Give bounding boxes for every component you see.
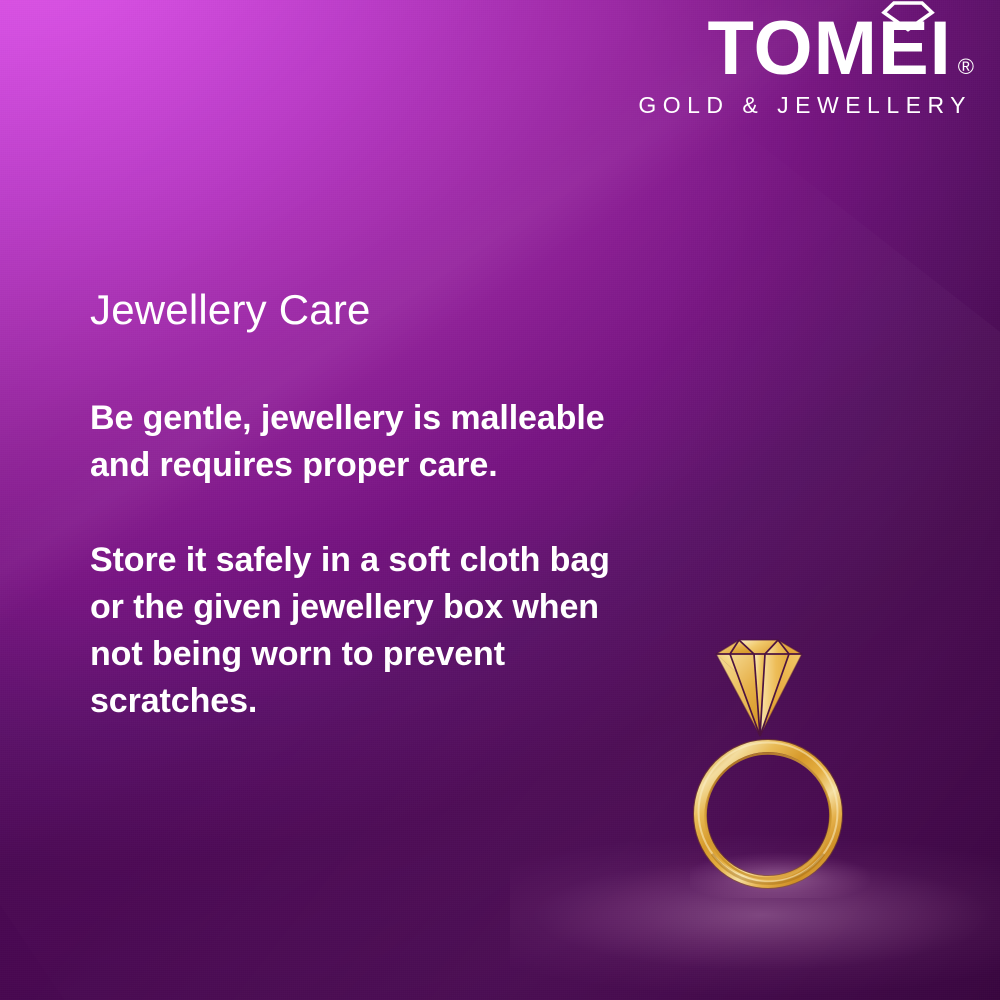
care-paragraph-1: Be gentle, jewellery is malleable and re… bbox=[90, 395, 650, 489]
diamond-outline-icon bbox=[881, 0, 935, 32]
diamond-ring-illustration bbox=[690, 628, 870, 898]
brand-tagline: GOLD & JEWELLERY bbox=[638, 92, 974, 119]
care-paragraph-2-line-1: Store it safely in a soft cloth bag bbox=[90, 537, 650, 584]
care-paragraph-2: Store it safely in a soft cloth bag or t… bbox=[90, 537, 650, 725]
page-title: Jewellery Care bbox=[90, 286, 650, 333]
care-paragraph-2-line-2: or the given jewellery box when bbox=[90, 584, 650, 631]
registered-trademark-mark: ® bbox=[958, 56, 974, 78]
care-paragraph-1-line-2: and requires proper care. bbox=[90, 442, 650, 489]
care-paragraph-2-line-3: not being worn to prevent bbox=[90, 631, 650, 678]
poster-canvas: TOMEI ® GOLD & JEWELLERY Jewellery Care … bbox=[0, 0, 1000, 1000]
care-paragraph-1-line-1: Be gentle, jewellery is malleable bbox=[90, 395, 650, 442]
care-copy-block: Jewellery Care Be gentle, jewellery is m… bbox=[90, 286, 650, 724]
brand-logo: TOMEI ® GOLD & JEWELLERY bbox=[638, 14, 974, 119]
diamond-gem-icon bbox=[716, 640, 802, 736]
care-paragraph-2-line-4: scratches. bbox=[90, 678, 650, 725]
brand-logo-row: TOMEI ® bbox=[638, 14, 974, 84]
